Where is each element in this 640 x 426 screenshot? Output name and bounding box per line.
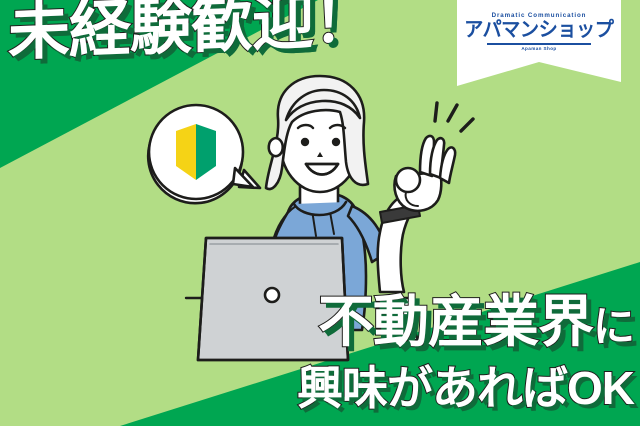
bottom-copy-line-1: 不動産業界に <box>318 277 634 358</box>
logo-name: アパマンショップ <box>464 20 613 40</box>
logo-tagline: Dramatic Communication <box>492 12 587 19</box>
bottom-copy-main: 不動産業界 <box>318 290 593 353</box>
headline-text: 未経験歓迎！ <box>8 0 368 65</box>
logo-divider <box>487 43 591 45</box>
logo-subtext: Apaman Shop <box>521 46 556 51</box>
bottom-copy-line-2: 興味があればOK <box>297 352 634 418</box>
bottom-copy-particle: に <box>593 303 634 350</box>
company-logo-card[interactable]: Dramatic Communication アパマンショップ Apaman S… <box>457 0 621 86</box>
recruitment-banner: Dramatic Communication アパマンショップ Apaman S… <box>0 0 640 426</box>
